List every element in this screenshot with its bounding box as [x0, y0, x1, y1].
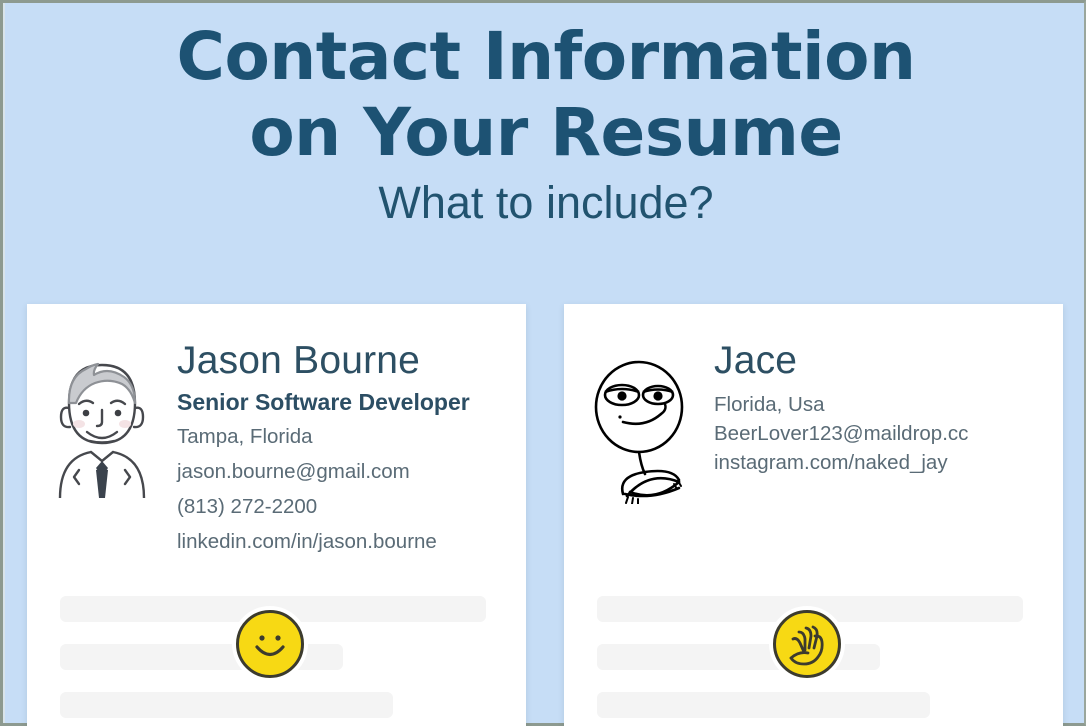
placeholder-bar	[60, 692, 393, 718]
contact-name: Jason Bourne	[177, 338, 470, 384]
businessman-avatar-icon	[27, 332, 177, 498]
contact-phone: (813) 272-2200	[177, 489, 470, 524]
waving-hand-icon	[773, 610, 841, 678]
page-subtitle: What to include?	[3, 177, 1086, 229]
card-body: Jace Florida, Usa BeerLover123@maildrop.…	[564, 304, 1063, 594]
contact-email: BeerLover123@maildrop.cc	[714, 419, 968, 448]
slide-header: Contact Information on Your Resume What …	[3, 19, 1086, 229]
challenge-accepted-meme-face-icon	[564, 332, 714, 504]
card-body: Jason Bourne Senior Software Developer T…	[27, 304, 526, 594]
contact-instagram: instagram.com/naked_jay	[714, 448, 968, 477]
contact-role: Senior Software Developer	[177, 386, 470, 419]
contact-name: Jace	[714, 338, 968, 384]
page-title-line-1: Contact Information	[3, 19, 1086, 95]
page-title-line-2: on Your Resume	[3, 95, 1086, 171]
smiley-face-icon	[236, 610, 304, 678]
contact-location: Florida, Usa	[714, 390, 968, 419]
contact-card-good-example: Jason Bourne Senior Software Developer T…	[27, 304, 526, 726]
contact-linkedin: linkedin.com/in/jason.bourne	[177, 524, 470, 559]
slide-canvas: Contact Information on Your Resume What …	[0, 0, 1086, 726]
contact-info: Jace Florida, Usa BeerLover123@maildrop.…	[714, 332, 968, 477]
placeholder-bars	[564, 596, 1063, 718]
placeholder-bar	[597, 692, 930, 718]
contact-card-bad-example: Jace Florida, Usa BeerLover123@maildrop.…	[564, 304, 1063, 726]
contact-email: jason.bourne@gmail.com	[177, 454, 470, 489]
contact-location: Tampa, Florida	[177, 419, 470, 454]
contact-info: Jason Bourne Senior Software Developer T…	[177, 332, 470, 559]
placeholder-bars	[27, 596, 526, 718]
